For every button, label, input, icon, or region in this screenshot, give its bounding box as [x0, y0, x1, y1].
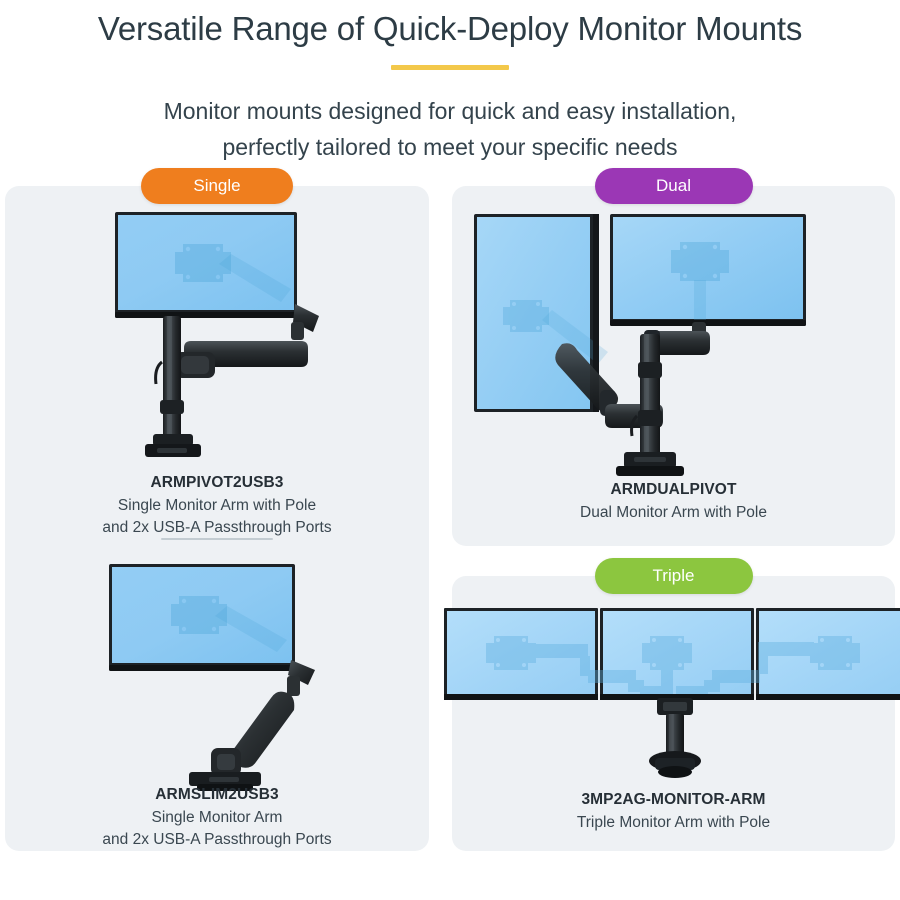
- badge-dual: Dual: [595, 168, 753, 204]
- subtitle-line-2: perfectly tailored to meet your specific…: [80, 130, 820, 166]
- product-sku: ARMPIVOT2USB3: [5, 474, 429, 492]
- product-description-line-1: Single Monitor Arm: [5, 807, 429, 829]
- product-text-3mp2ag-monitor-arm: 3MP2AG-MONITOR-ARM Triple Monitor Arm wi…: [452, 791, 895, 834]
- product-art-armpivot2usb3: [5, 204, 429, 469]
- product-sku: 3MP2AG-MONITOR-ARM: [452, 791, 895, 809]
- card-single[interactable]: Single: [5, 186, 429, 851]
- title-underline-rule: [391, 65, 509, 70]
- product-sku: ARMDUALPIVOT: [452, 481, 895, 499]
- page-header: Versatile Range of Quick-Deploy Monitor …: [0, 0, 900, 166]
- product-art-armdualpivot: [452, 204, 895, 479]
- product-description: Single Monitor Arm with Pole and 2x USB-…: [5, 495, 429, 540]
- product-description-line-2: and 2x USB-A Passthrough Ports: [5, 517, 429, 539]
- product-text-armdualpivot: ARMDUALPIVOT Dual Monitor Arm with Pole: [452, 481, 895, 524]
- product-description-line-1: Dual Monitor Arm with Pole: [452, 502, 895, 524]
- product-description-line-1: Triple Monitor Arm with Pole: [452, 812, 895, 834]
- card-triple[interactable]: Triple: [452, 576, 895, 851]
- product-description-line-2: and 2x USB-A Passthrough Ports: [5, 829, 429, 851]
- subtitle-line-1: Monitor mounts designed for quick and ea…: [80, 94, 820, 130]
- product-sku: ARMSLIM2USB3: [5, 786, 429, 804]
- dual-monitor-pole-mount-icon: [452, 204, 895, 479]
- product-description-line-1: Single Monitor Arm with Pole: [5, 495, 429, 517]
- single-monitor-pole-mount-icon: [5, 204, 429, 469]
- card-divider: [161, 538, 273, 540]
- product-text-armpivot2usb3: ARMPIVOT2USB3 Single Monitor Arm with Po…: [5, 474, 429, 540]
- product-art-3mp2ag-monitor-arm: [432, 598, 900, 788]
- badge-single: Single: [141, 168, 293, 204]
- triple-monitor-pole-mount-icon: [432, 598, 900, 788]
- product-text-armslim2usb3: ARMSLIM2USB3 Single Monitor Arm and 2x U…: [5, 786, 429, 852]
- product-description: Single Monitor Arm and 2x USB-A Passthro…: [5, 807, 429, 852]
- product-card-grid: Single: [0, 166, 900, 866]
- page-subtitle: Monitor mounts designed for quick and ea…: [80, 94, 820, 165]
- page-title: Versatile Range of Quick-Deploy Monitor …: [0, 8, 900, 49]
- badge-triple: Triple: [595, 558, 753, 594]
- product-art-armslim2usb3: [5, 558, 429, 793]
- single-monitor-slim-mount-icon: [5, 558, 429, 793]
- product-description: Dual Monitor Arm with Pole: [452, 502, 895, 524]
- product-description: Triple Monitor Arm with Pole: [452, 812, 895, 834]
- card-dual[interactable]: Dual: [452, 186, 895, 546]
